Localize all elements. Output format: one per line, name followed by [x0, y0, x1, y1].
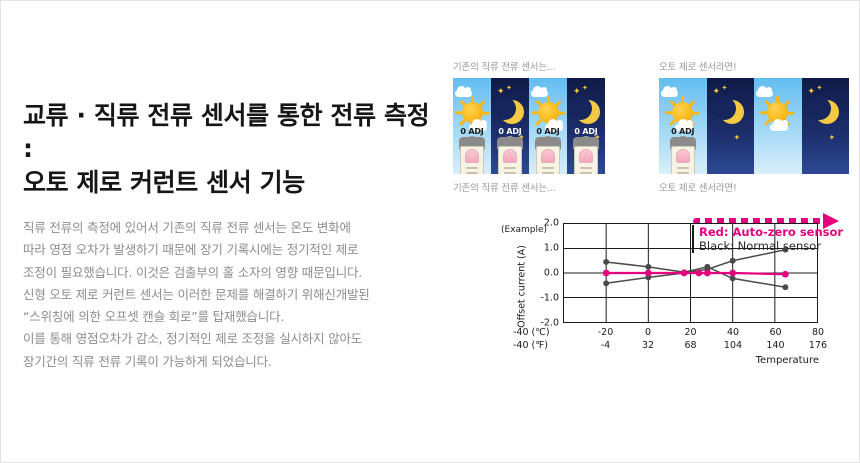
panel-day: 0 ADJ	[659, 78, 707, 174]
device-detail-line	[466, 172, 478, 174]
chart-x-ticks-celsius: -40 (℃)-20020406080	[499, 327, 851, 340]
device-body	[671, 146, 695, 174]
caption-left-top: 기존의 직류 전류 센서는...	[453, 59, 555, 73]
chart-data-point	[603, 270, 610, 277]
device-detail-line	[580, 167, 592, 169]
device-detail-line	[504, 167, 516, 169]
panel-group-normal-sensor: 0 ADJ ✦ ✦ ✦	[453, 78, 605, 174]
device-detail-line	[466, 167, 478, 169]
star-icon: ✦	[713, 88, 721, 97]
chart-x-tick-celsius: 20	[684, 327, 696, 338]
panel-night: ✦ ✦ ✦ 0 ADJ	[491, 78, 529, 174]
caption-right-bottom: 오토 제로 센서라면!	[659, 180, 737, 194]
star-icon: ✦	[582, 85, 588, 92]
moon-icon	[815, 100, 839, 124]
adj-label: 0 ADJ	[498, 127, 521, 136]
adj-label: 0 ADJ	[671, 127, 694, 136]
panel-night: ✦ ✦ ✦	[707, 78, 755, 174]
chart-x-tick-celsius: 80	[812, 327, 824, 338]
device-window	[503, 149, 517, 163]
device-detail-line	[677, 167, 689, 169]
device-detail-line	[504, 172, 516, 174]
body-paragraph: 직류 전류의 측정에 있어서 기존의 직류 전류 센서는 온도 변화에 따라 영…	[23, 217, 423, 373]
device-body	[460, 146, 484, 174]
moon-icon	[576, 100, 600, 124]
chart-data-point	[696, 270, 703, 277]
chart-x-tick-fahrenheit: 176	[809, 340, 827, 351]
device-window	[676, 149, 690, 163]
chart-data-point	[729, 270, 736, 277]
chart-data-point	[603, 280, 609, 286]
chart-data-point	[782, 271, 789, 278]
adj-label: 0 ADJ	[536, 127, 559, 136]
chart-y-tick: 1.0	[544, 243, 559, 254]
star-icon: ✦	[808, 88, 816, 97]
chart-data-point	[645, 264, 651, 270]
chart-x-axis-label: Temperature	[756, 355, 819, 366]
device-body	[536, 146, 560, 174]
offset-current-chart: (Example) Offset current (A) 2.01.00.0-1…	[499, 223, 851, 363]
chart-data-point	[603, 259, 609, 265]
cloud-icon	[661, 90, 678, 97]
cloud-icon	[770, 124, 788, 131]
chart-y-ticks: 2.01.00.0-1.0-2.0	[533, 223, 559, 323]
chart-x-axis: -40 (℃)-20020406080 -40 (℉)-432681041401…	[499, 327, 851, 367]
cloud-icon	[756, 90, 773, 97]
chart-series-line	[606, 250, 785, 284]
chart-x-tick-fahrenheit: 140	[766, 340, 784, 351]
panel-day: 0 ADJ	[453, 78, 491, 174]
device-window	[541, 149, 555, 163]
star-icon: ✦	[829, 134, 836, 142]
chart-data-point	[645, 270, 652, 277]
panel-night: ✦ ✦ ✦ 0 ADJ	[567, 78, 605, 174]
chart-x-unit-fahrenheit: -40 (℉)	[513, 340, 548, 351]
chart-x-tick-celsius: 0	[645, 327, 651, 338]
cloud-icon	[531, 90, 548, 97]
legend-item-auto-zero: Red: Auto-zero sensor	[699, 225, 843, 239]
chart-x-tick-fahrenheit: 68	[684, 340, 696, 351]
chart-data-point	[704, 264, 710, 270]
star-icon: ✦	[497, 88, 505, 97]
illustration-bottom-captions: 기존의 직류 전류 센서는... 오토 제로 센서라면!	[453, 180, 849, 196]
adj-label: 0 ADJ	[460, 127, 483, 136]
page-title: 교류 · 직류 전류 센서를 통한 전류 측정 : 오토 제로 커런트 센서 기…	[23, 99, 443, 199]
star-icon: ✦	[722, 85, 728, 92]
chart-x-tick-fahrenheit: 32	[642, 340, 654, 351]
device-detail-line	[542, 167, 554, 169]
chart-y-tick: -1.0	[540, 293, 559, 304]
illustration-block: 기존의 직류 전류 센서는... 오토 제로 센서라면!	[453, 59, 849, 196]
caption-right-top: 오토 제로 센서라면!	[659, 59, 737, 73]
panel-group-auto-zero-sensor: 0 ADJ ✦ ✦ ✦	[659, 78, 849, 174]
star-icon: ✦	[734, 134, 741, 142]
panel-day	[754, 78, 802, 174]
illustration-panels: 0 ADJ ✦ ✦ ✦	[453, 78, 849, 174]
chart-y-axis-label: Offset current (A)	[517, 244, 528, 330]
chart-y-tick: 0.0	[544, 268, 559, 279]
star-icon: ✦	[817, 85, 823, 92]
chart-plot-area: Red: Auto-zero sensor Black: Normal sens…	[563, 223, 818, 323]
adj-label: 0 ADJ	[574, 127, 597, 136]
device-detail-line	[542, 172, 554, 174]
headline-block: 교류 · 직류 전류 센서를 통한 전류 측정 : 오토 제로 커런트 센서 기…	[23, 99, 443, 199]
panel-night: ✦ ✦ ✦	[802, 78, 850, 174]
device-window	[579, 149, 593, 163]
chart-x-tick-celsius: 60	[769, 327, 781, 338]
chart-data-point	[782, 284, 788, 290]
star-icon: ✦	[506, 85, 512, 92]
star-icon: ✦	[573, 88, 581, 97]
chart-x-tick-celsius: -20	[598, 327, 614, 338]
chart-data-point	[730, 275, 736, 281]
chart-data-point	[730, 258, 736, 264]
cloud-icon	[455, 90, 472, 97]
chart-data-point	[704, 270, 711, 277]
device-detail-line	[677, 172, 689, 174]
caption-left-bottom: 기존의 직류 전류 센서는...	[453, 180, 555, 194]
chart-legend: Red: Auto-zero sensor Black: Normal sens…	[692, 225, 843, 253]
chart-x-unit-celsius: -40 (℃)	[513, 327, 550, 338]
device-body	[498, 146, 522, 174]
chart-y-tick: 2.0	[544, 218, 559, 229]
chart-x-tick-fahrenheit: -4	[601, 340, 610, 351]
panel-day: 0 ADJ	[529, 78, 567, 174]
device-window	[465, 149, 479, 163]
moon-icon	[500, 100, 524, 124]
chart-data-point	[681, 270, 688, 277]
device-body	[574, 146, 598, 174]
illustration-top-captions: 기존의 직류 전류 센서는... 오토 제로 센서라면!	[453, 59, 849, 75]
page-canvas: 교류 · 직류 전류 센서를 통한 전류 측정 : 오토 제로 커런트 센서 기…	[0, 0, 860, 463]
device-detail-line	[580, 172, 592, 174]
legend-item-normal: Black: Normal sensor	[699, 239, 843, 253]
chart-x-tick-fahrenheit: 104	[724, 340, 742, 351]
chart-x-ticks-fahrenheit: -40 (℉)-43268104140176	[499, 340, 851, 353]
chart-x-tick-celsius: 40	[727, 327, 739, 338]
moon-icon	[720, 100, 744, 124]
